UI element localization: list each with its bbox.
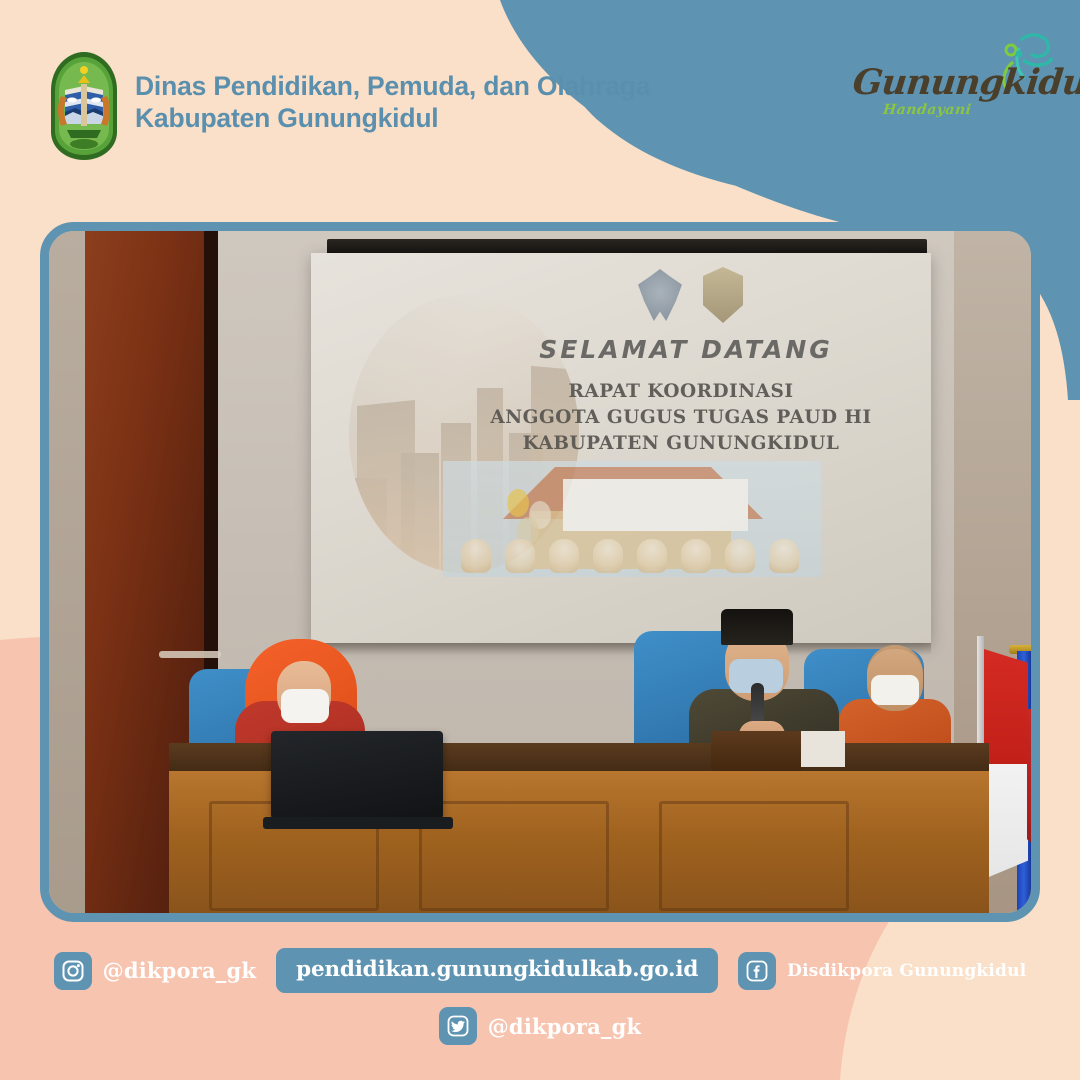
instagram-handle[interactable]: @dikpora_gk xyxy=(54,952,257,990)
slide-subject-text: RAPAT KOORDINASI ANGGOTA GUGUS TUGAS PAU… xyxy=(441,379,921,457)
facebook-handle[interactable]: Disdikpora Gunungkidul xyxy=(738,952,1026,990)
event-photo-card: SELAMAT DATANG RAPAT KOORDINASI ANGGOTA … xyxy=(40,222,1040,922)
face-mask xyxy=(871,675,919,705)
event-photo: SELAMAT DATANG RAPAT KOORDINASI ANGGOTA … xyxy=(49,231,1031,913)
laptop xyxy=(271,731,443,819)
page-title: Dinas Pendidikan, Pemuda, dan Olahraga K… xyxy=(135,70,650,134)
face-mask xyxy=(281,689,329,723)
title-line-1: Dinas Pendidikan, Pemuda, dan Olahraga xyxy=(135,71,650,101)
slide-line-1: RAPAT KOORDINASI xyxy=(441,379,921,405)
twitter-handle[interactable]: @dikpora_gk xyxy=(439,1007,642,1045)
gunungkidul-brand-logo: Gunungkidul Handayani xyxy=(843,28,1058,133)
indonesian-flag-icon xyxy=(984,649,1028,879)
poster-canvas: Dinas Pendidikan, Pemuda, dan Olahraga K… xyxy=(0,0,1080,1080)
twitter-label: @dikpora_gk xyxy=(488,1014,642,1039)
title-line-2: Kabupaten Gunungkidul xyxy=(135,102,650,134)
instagram-icon[interactable] xyxy=(54,952,92,990)
facebook-icon[interactable] xyxy=(738,952,776,990)
brand-wordmark: Gunungkidul xyxy=(851,62,1080,103)
laptop-base xyxy=(263,817,453,829)
table-panel xyxy=(659,801,849,911)
door-handle xyxy=(159,651,221,658)
peci-cap xyxy=(721,609,793,645)
projector-screen: SELAMAT DATANG RAPAT KOORDINASI ANGGOTA … xyxy=(311,253,931,643)
desk-white-box xyxy=(801,731,845,767)
presentation-slide: SELAMAT DATANG RAPAT KOORDINASI ANGGOTA … xyxy=(311,253,931,643)
gunungkidul-regency-crest-icon xyxy=(45,50,123,162)
facebook-label: Disdikpora Gunungkidul xyxy=(787,961,1026,981)
slide-line-3: KABUPATEN GUNUNGKIDUL xyxy=(441,431,921,457)
slide-line-2: ANGGOTA GUGUS TUGAS PAUD HI xyxy=(441,405,921,431)
footer-social-bar: @dikpora_gk pendidikan.gunungkidulkab.go… xyxy=(0,930,1080,1080)
website-url-button[interactable]: pendidikan.gunungkidulkab.go.id xyxy=(276,948,718,993)
instagram-label: @dikpora_gk xyxy=(103,958,257,983)
brand-tagline: Handayani xyxy=(882,102,972,118)
header: Dinas Pendidikan, Pemuda, dan Olahraga K… xyxy=(0,0,1080,210)
slide-welcome-text: SELAMAT DATANG xyxy=(311,335,931,364)
desk-podium-box xyxy=(711,731,803,771)
pemerintah-kabupaten-gunungkidul-logo-icon xyxy=(703,267,743,323)
school-house-with-children-icon xyxy=(443,461,821,577)
twitter-icon[interactable] xyxy=(439,1007,477,1045)
kemdikbud-tut-wuri-handayani-logo-icon xyxy=(638,269,682,321)
